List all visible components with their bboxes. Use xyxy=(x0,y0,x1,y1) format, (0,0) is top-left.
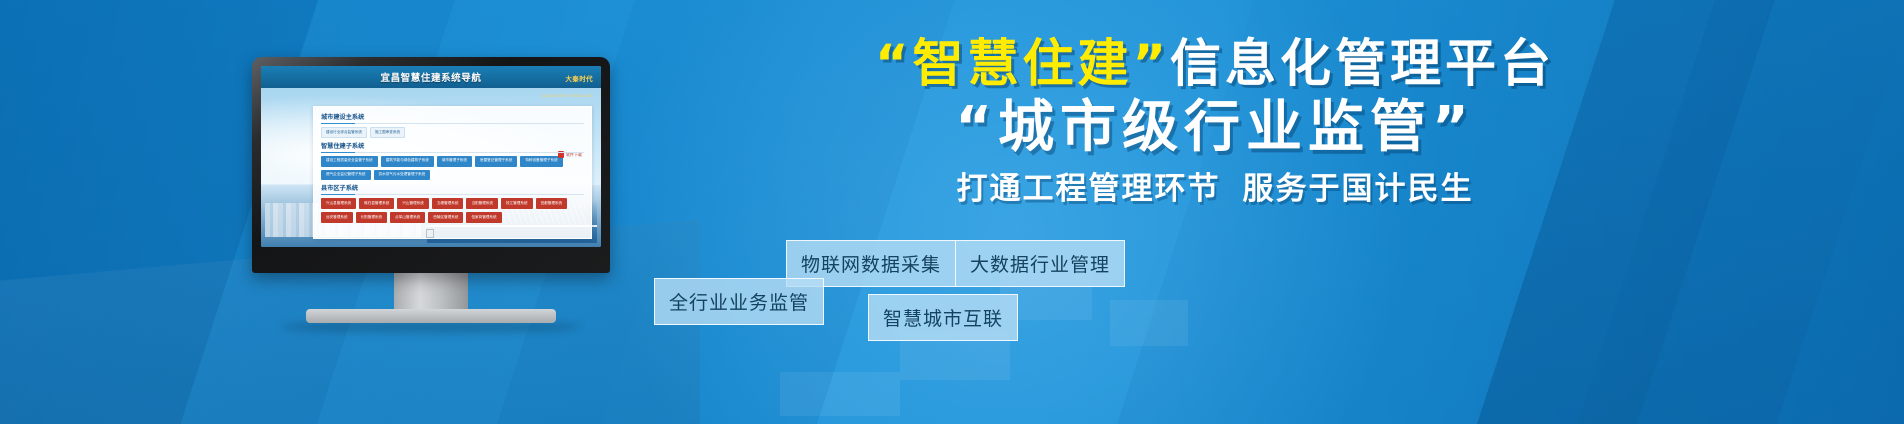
nav-chip[interactable]: 兴山管理系统 xyxy=(397,198,429,209)
nav-chip[interactable]: 宜都管理系统 xyxy=(536,198,568,209)
section-title: 城市建设主系统 xyxy=(321,112,584,123)
feature-tag-bigdata-industry[interactable]: 大数据行业管理 xyxy=(955,240,1125,287)
screen-vendor-logo: 大秦时代 DAQIN TIMES TECHNOLOGY xyxy=(542,69,593,101)
promo-banner: 宜昌智慧住建系统导航 大秦时代 DAQIN TIMES TECHNOLOGY 软… xyxy=(0,0,1904,424)
section-rule xyxy=(321,123,584,124)
nav-chip[interactable]: 特种设备管理子系统 xyxy=(520,156,562,167)
screen-site-title: 宜昌智慧住建系统导航 xyxy=(380,70,481,84)
screen-section-smart-housing: 智慧住建子系统 建设工程质量安全监管子系统 建筑节能与绿色建筑子系统 城市管理子… xyxy=(321,141,584,181)
subtitle-part-1: 打通工程管理环节 xyxy=(957,171,1221,207)
nav-chip[interactable]: 西陵区管理系统 xyxy=(428,212,463,223)
nav-chip[interactable]: 施工图审查系统 xyxy=(370,127,405,138)
nav-chip[interactable]: 建设行业综合监管系统 xyxy=(321,127,367,138)
nav-chip[interactable]: 秭归县管理系统 xyxy=(359,198,394,209)
section-title: 智慧住建子系统 xyxy=(321,141,584,152)
nav-chip[interactable]: 当阳管理系统 xyxy=(466,198,498,209)
vendor-logo-en: DAQIN TIMES TECHNOLOGY xyxy=(542,94,593,98)
nav-chip[interactable]: 城市管理子系统 xyxy=(437,156,472,167)
section-rule xyxy=(321,194,584,195)
section-title: 县市区子系统 xyxy=(321,183,584,194)
monitor-stand-neck xyxy=(394,269,468,313)
headline-quote-close: ” xyxy=(1133,35,1171,94)
nav-chip[interactable]: 长阳管理系统 xyxy=(356,212,388,223)
nav-chip[interactable]: 点军山管理系统 xyxy=(390,212,425,223)
headline-line-1: “智慧住建”信息化管理平台 xyxy=(640,36,1790,93)
vendor-logo-cn: 大秦时代 xyxy=(565,76,593,83)
headline-line-2: “城市级行业监管” xyxy=(640,95,1790,161)
headline-highlight-text: 智慧住建 xyxy=(912,35,1132,94)
screen-nav-card: 软件下载 城市建设主系统 建设行业综合监管系统 施工图审查系统 智慧住建子系统 xyxy=(313,106,592,239)
headline-block: “智慧住建”信息化管理平台 “城市级行业监管” 打通工程管理环节服务于国计民生 xyxy=(640,36,1790,208)
nav-chip[interactable]: 远安管理系统 xyxy=(321,212,353,223)
nav-chip[interactable]: 枝江管理系统 xyxy=(501,198,533,209)
nav-chip[interactable]: 燃气企业监记管理子系统 xyxy=(321,170,371,181)
feature-tag-smart-city[interactable]: 智慧城市互联 xyxy=(868,294,1018,341)
monitor-stand-foot xyxy=(306,309,556,323)
nav-chip[interactable]: 伍家岗管理系统 xyxy=(466,212,501,223)
monitor-screen: 宜昌智慧住建系统导航 大秦时代 DAQIN TIMES TECHNOLOGY 软… xyxy=(261,66,601,247)
screen-section-county-systems: 县市区子系统 兴山县管理系统 秭归县管理系统 兴山管理系统 五峰管理系统 当阳管… xyxy=(321,183,584,223)
ghost-rect-2 xyxy=(1110,300,1188,346)
headline-rest-text: 信息化管理平台 xyxy=(1170,35,1555,94)
section-chip-list: 建设工程质量安全监管子系统 建筑节能与绿色建筑子系统 城市管理子系统 房屋登记管… xyxy=(321,156,584,181)
nav-chip[interactable]: 建设工程质量安全监管子系统 xyxy=(321,156,378,167)
feature-tag-industry-supervision[interactable]: 全行业业务监管 xyxy=(654,278,824,325)
headline-quote-open: “ xyxy=(875,35,913,94)
screen-site-header: 宜昌智慧住建系统导航 大秦时代 DAQIN TIMES TECHNOLOGY xyxy=(261,66,601,88)
apple-logo-icon:  xyxy=(425,227,437,240)
nav-chip[interactable]: 供水供气污水处理管理子系统 xyxy=(374,170,431,181)
screen-section-main-systems: 城市建设主系统 建设行业综合监管系统 施工图审查系统 xyxy=(321,112,584,138)
nav-chip[interactable]: 兴山县管理系统 xyxy=(321,198,356,209)
headline-subtitle: 打通工程管理环节服务于国计民生 xyxy=(640,171,1790,208)
nav-chip[interactable]: 房屋登记管理子系统 xyxy=(475,156,517,167)
nav-chip[interactable]: 建筑节能与绿色建筑子系统 xyxy=(381,156,434,167)
section-chip-list: 兴山县管理系统 秭归县管理系统 兴山管理系统 五峰管理系统 当阳管理系统 枝江管… xyxy=(321,198,584,223)
monitor-bezel: 宜昌智慧住建系统导航 大秦时代 DAQIN TIMES TECHNOLOGY 软… xyxy=(252,57,610,273)
imac-mockup: 宜昌智慧住建系统导航 大秦时代 DAQIN TIMES TECHNOLOGY 软… xyxy=(252,57,610,304)
subtitle-part-2: 服务于国计民生 xyxy=(1243,171,1474,207)
section-rule xyxy=(321,152,584,153)
ghost-rect-4 xyxy=(780,372,900,416)
nav-chip[interactable]: 五峰管理系统 xyxy=(432,198,464,209)
section-chip-list: 建设行业综合监管系统 施工图审查系统 xyxy=(321,127,584,138)
